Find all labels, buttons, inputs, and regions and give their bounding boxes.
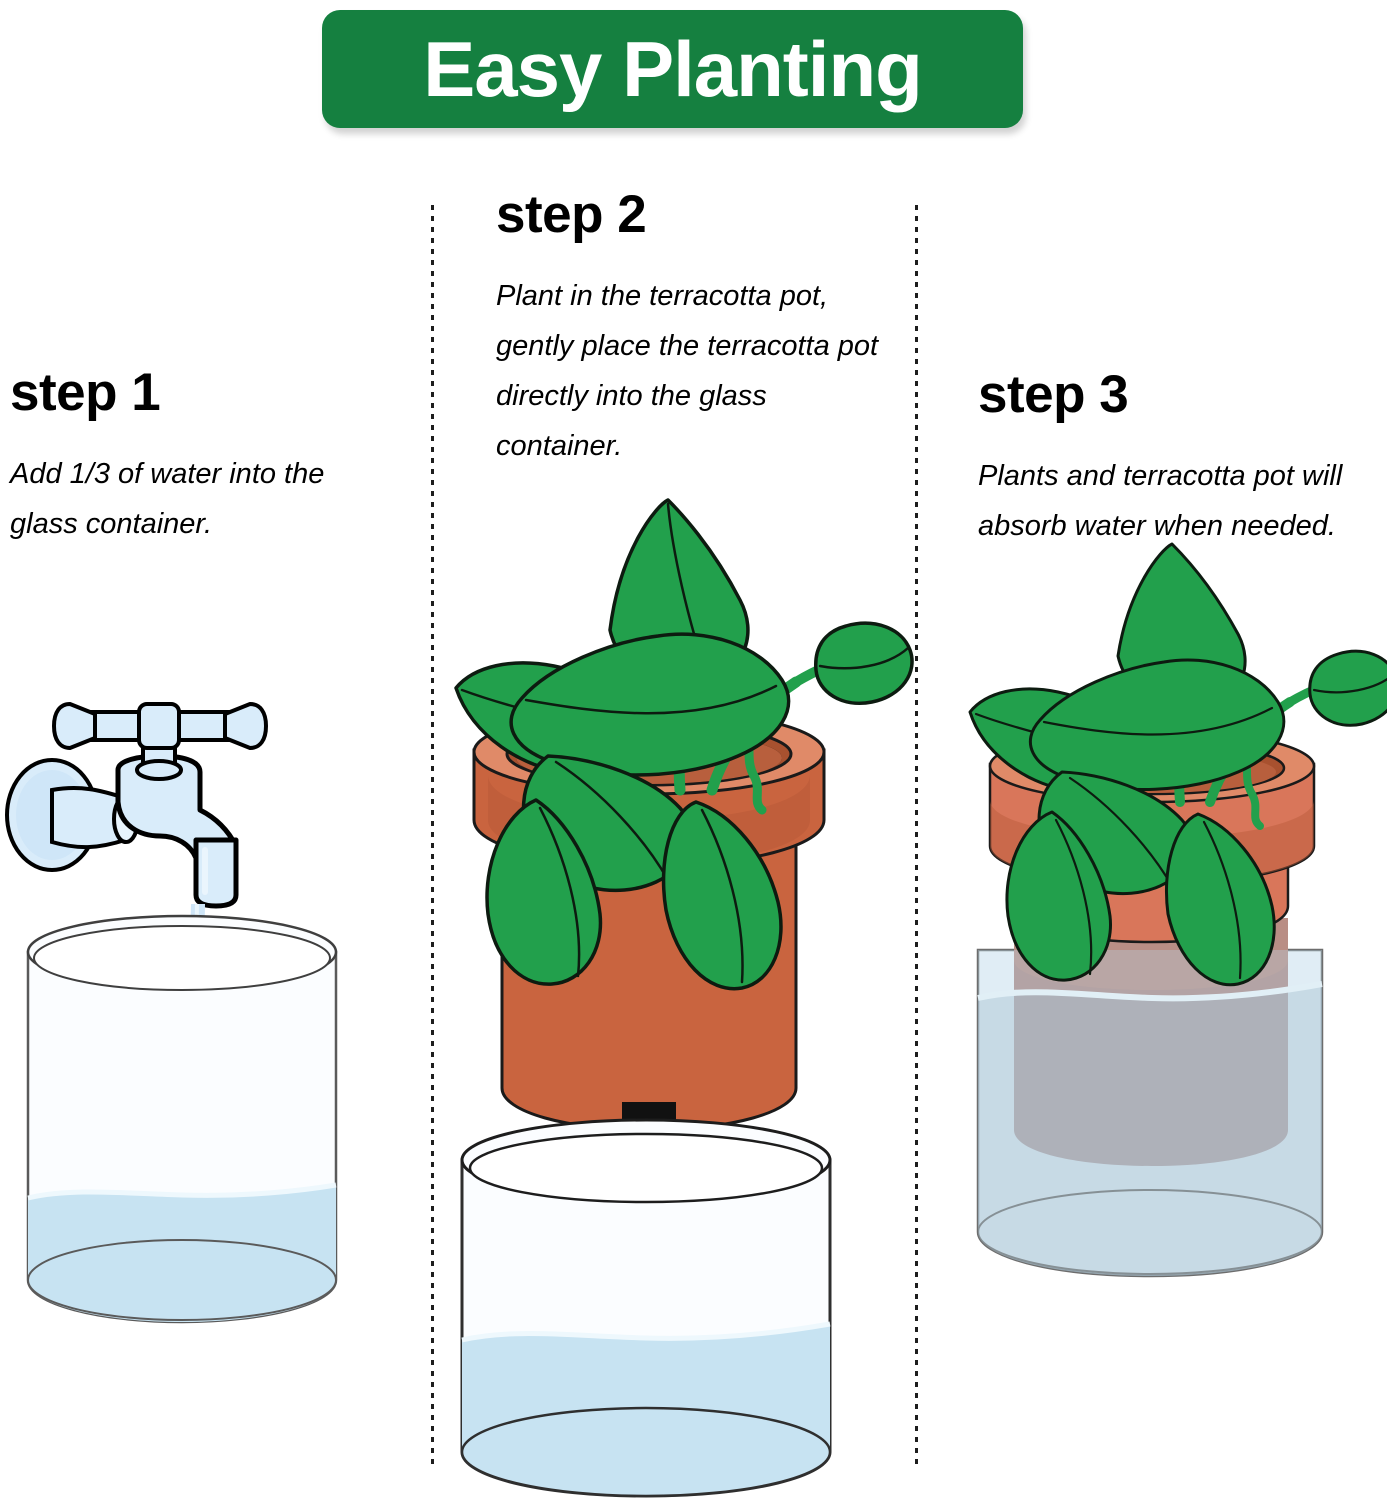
step-1-body: Add 1/3 of water into the glass containe…	[10, 450, 380, 550]
step-2-body: Plant in the terracotta pot, gently plac…	[496, 272, 896, 472]
step-1-heading: step 1	[10, 362, 160, 423]
plant	[970, 544, 1387, 985]
step-2-heading: step 2	[496, 184, 646, 245]
glass-container	[28, 916, 336, 1322]
step-3-heading: step 3	[978, 364, 1128, 425]
step-column-1: step 1 Add 1/3 of water into the glass c…	[0, 0, 430, 1500]
step-column-3: step 3 Plants and terracotta pot will ab…	[918, 0, 1387, 1500]
plant	[456, 500, 912, 989]
step-1-illustration	[0, 690, 430, 1500]
glass-tint	[978, 950, 1322, 1276]
step-column-2: step 2 Plant in the terracotta pot, gent…	[434, 0, 914, 1500]
glass-container	[462, 1120, 830, 1496]
step-3-illustration	[928, 660, 1387, 1320]
faucet-icon	[7, 704, 266, 906]
step-2-illustration	[444, 490, 914, 1500]
step-3-body: Plants and terracotta pot will absorb wa…	[978, 452, 1378, 552]
